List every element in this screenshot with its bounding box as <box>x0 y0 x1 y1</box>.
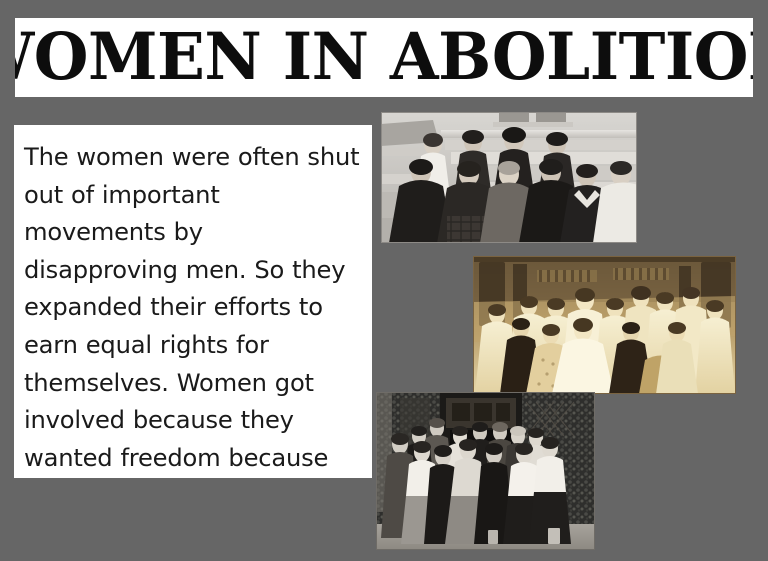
photo-women-in-parlor <box>473 256 736 394</box>
photo-women-on-steps-graphic <box>381 112 637 243</box>
photo-women-by-ivy-building-graphic <box>376 392 595 550</box>
page-title: WOMEN IN ABOLITION <box>15 25 753 90</box>
title-banner: WOMEN IN ABOLITION <box>15 18 753 97</box>
body-text-card: The women were often shut out of importa… <box>14 125 372 478</box>
photo-women-in-parlor-graphic <box>473 256 736 394</box>
photo-women-on-steps <box>381 112 637 243</box>
photo-women-by-ivy-building <box>376 392 595 550</box>
body-paragraph: The women were often shut out of importa… <box>24 139 360 478</box>
slide-canvas: WOMEN IN ABOLITION The women were often … <box>0 0 768 561</box>
